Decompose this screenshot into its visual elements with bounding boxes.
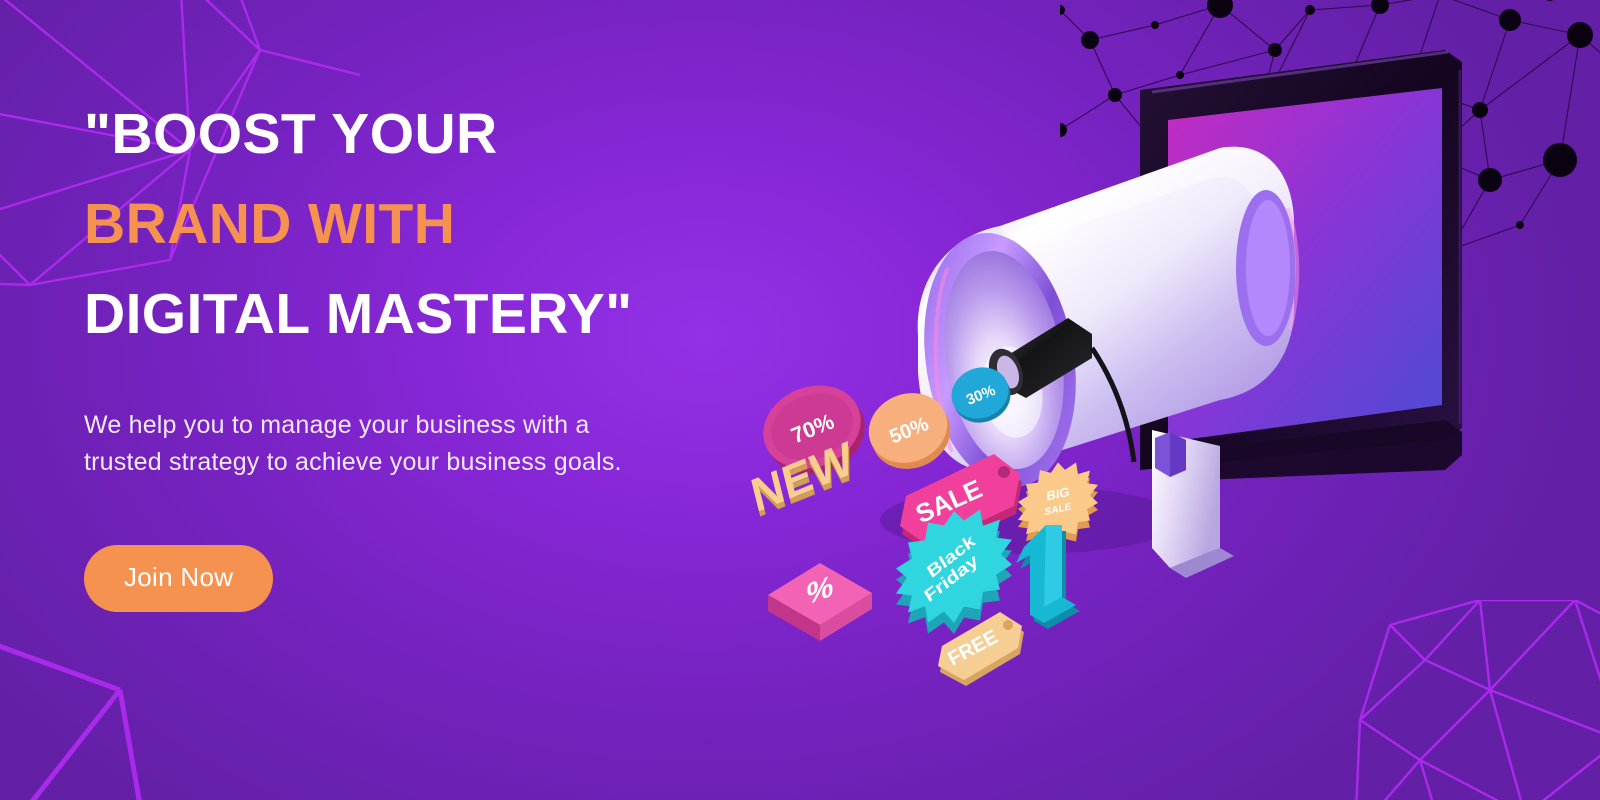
hero-copy-block: "BOOST YOUR BRAND WITH DIGITAL MASTERY" … <box>84 106 784 612</box>
promo-banner: "BOOST YOUR BRAND WITH DIGITAL MASTERY" … <box>0 0 1600 800</box>
page-title: "BOOST YOUR BRAND WITH DIGITAL MASTERY" <box>84 106 784 343</box>
headline-line-3: DIGITAL MASTERY" <box>84 286 784 343</box>
hero-artwork: 70% 50% 30% NEW NEW <box>700 0 1600 800</box>
subcopy-text: We help you to manage your business with… <box>84 407 664 481</box>
headline-line-1: "BOOST YOUR <box>84 106 784 163</box>
headline-line-2: BRAND WITH <box>84 196 784 253</box>
wireframe-decoration-bottom-left <box>0 630 300 800</box>
join-now-button[interactable]: Join Now <box>84 545 273 612</box>
